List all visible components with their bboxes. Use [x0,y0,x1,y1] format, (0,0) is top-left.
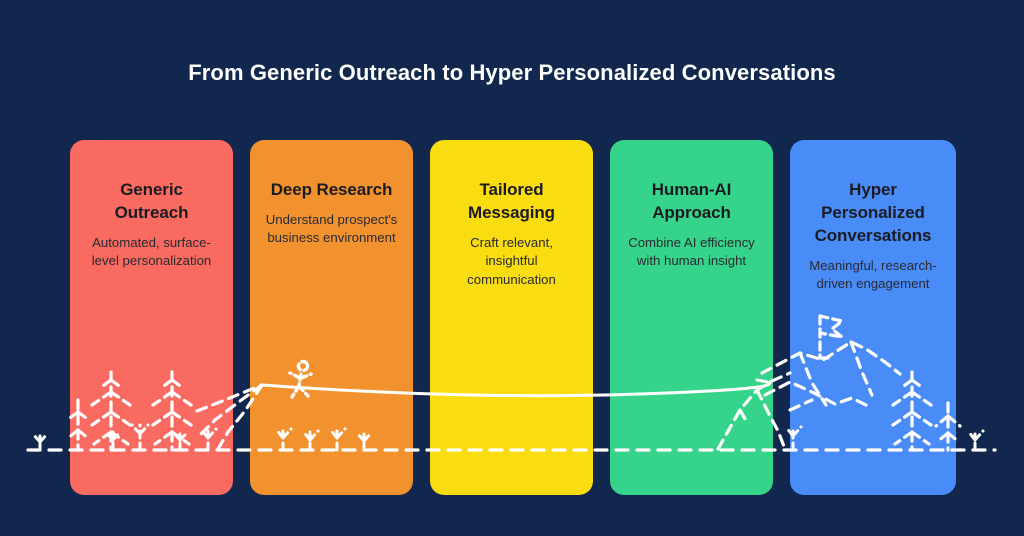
stage-card-description: Automated, surface-level personalization [84,234,219,271]
infographic-canvas: From Generic Outreach to Hyper Personali… [0,0,1024,536]
stage-card-human-ai-approach[interactable]: Human-AI Approach Combine AI efficiency … [610,140,773,495]
stage-card-description: Understand prospect's business environme… [264,211,399,248]
stage-card-title: Tailored Messaging [444,179,579,225]
stage-card-description: Combine AI efficiency with human insight [624,234,759,271]
stage-card-text: Generic Outreach Automated, surface-leve… [70,140,233,271]
stage-card-deep-research[interactable]: Deep Research Understand prospect's busi… [250,140,413,495]
stage-card-title: Human-AI Approach [624,179,759,225]
stage-card-text: Hyper Personalized Conversations Meaning… [790,140,956,294]
stage-card-hyper-personalized-conversations[interactable]: Hyper Personalized Conversations Meaning… [790,140,956,495]
stage-card-description: Craft relevant, insightful communication [444,234,579,289]
stage-card-title: Generic Outreach [84,179,219,225]
stage-card-generic-outreach[interactable]: Generic Outreach Automated, surface-leve… [70,140,233,495]
stage-card-tailored-messaging[interactable]: Tailored Messaging Craft relevant, insig… [430,140,593,495]
stage-card-title: Hyper Personalized Conversations [804,179,942,248]
stage-card-text: Deep Research Understand prospect's busi… [250,140,413,248]
stage-card-text: Human-AI Approach Combine AI efficiency … [610,140,773,271]
page-title: From Generic Outreach to Hyper Personali… [0,60,1024,86]
stage-card-description: Meaningful, research-driven engagement [804,257,942,294]
stage-card-title: Deep Research [264,179,399,202]
stage-card-text: Tailored Messaging Craft relevant, insig… [430,140,593,289]
